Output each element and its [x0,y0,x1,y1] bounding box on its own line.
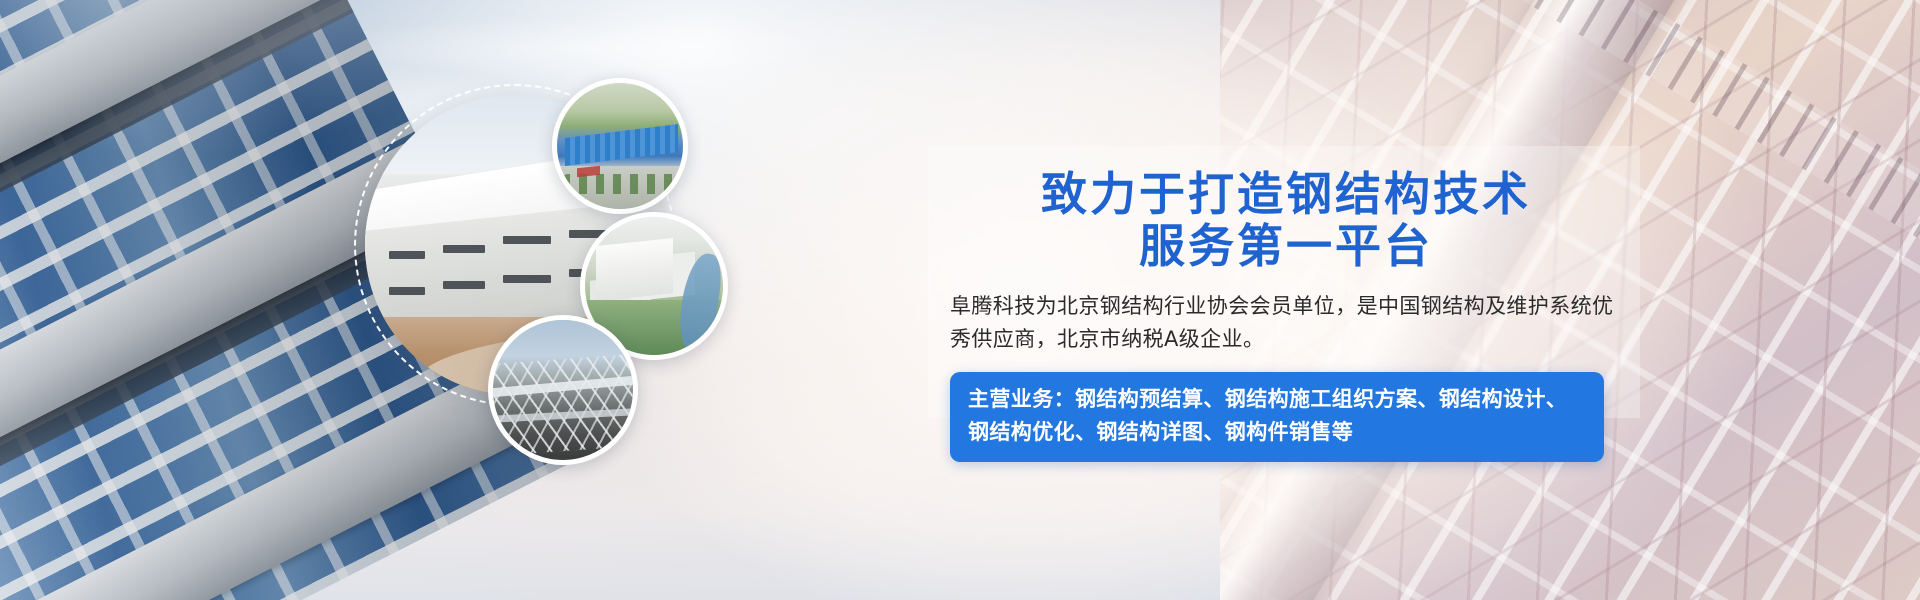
campus-buildings [596,238,673,301]
headline-line-2: 服务第一平台 [928,220,1644,272]
banner-description: 阜腾科技为北京钢结构行业协会会员单位，是中国钢结构及维护系统优秀供应商，北京市纳… [928,290,1644,356]
banner-headline: 致力于打造钢结构技术 服务第一平台 [928,150,1644,272]
steel-frame-image [493,320,633,460]
business-scope-box: 主营业务：钢结构预结算、钢结构施工组织方案、钢结构设计、钢结构优化、钢结构详图、… [950,372,1604,462]
aerial-factory-image [557,83,683,209]
steel-truss-grid [488,352,638,458]
factory-blue-roof [565,124,678,166]
headline-line-1: 致力于打造钢结构技术 [1041,167,1531,221]
photo-aerial-factory [552,78,688,214]
hero-banner: 致力于打造钢结构技术 服务第一平台 阜腾科技为北京钢结构行业协会会员单位，是中国… [0,0,1920,600]
banner-text-block: 致力于打造钢结构技术 服务第一平台 阜腾科技为北京钢结构行业协会会员单位，是中国… [928,150,1644,462]
photo-steel-space-frame [488,315,638,465]
